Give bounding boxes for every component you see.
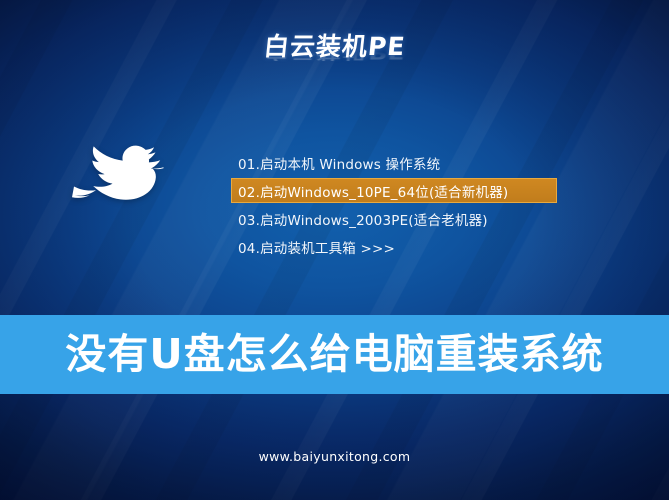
brand-logo-reflection: 白云装机PE	[0, 46, 669, 62]
footer-website-url: www.baiyunxitong.com	[259, 449, 411, 464]
boot-menu-item-01[interactable]: 01.启动本机 Windows 操作系统	[231, 150, 561, 175]
twitter-bird-icon	[68, 134, 168, 212]
boot-menu-item-03[interactable]: 03.启动Windows_2003PE(适合老机器)	[231, 206, 561, 231]
boot-menu-item-04[interactable]: 04.启动装机工具箱 >>>	[231, 234, 561, 259]
boot-menu-list: 01.启动本机 Windows 操作系统 02.启动Windows_10PE_6…	[231, 150, 561, 262]
headline-banner-text: 没有U盘怎么给电脑重装系统	[65, 334, 603, 375]
headline-banner: 没有U盘怎么给电脑重装系统	[0, 315, 669, 394]
footer: www.baiyunxitong.com	[0, 448, 669, 466]
boot-menu-item-02-selected[interactable]: 02.启动Windows_10PE_64位(适合新机器)	[231, 178, 557, 203]
brand-logo: 白云装机PE 白云装机PE	[0, 34, 669, 86]
pe-boot-menu-screen: 白云装机PE 白云装机PE 01.启动本机 Windows 操作系统 02.启动…	[0, 0, 669, 500]
